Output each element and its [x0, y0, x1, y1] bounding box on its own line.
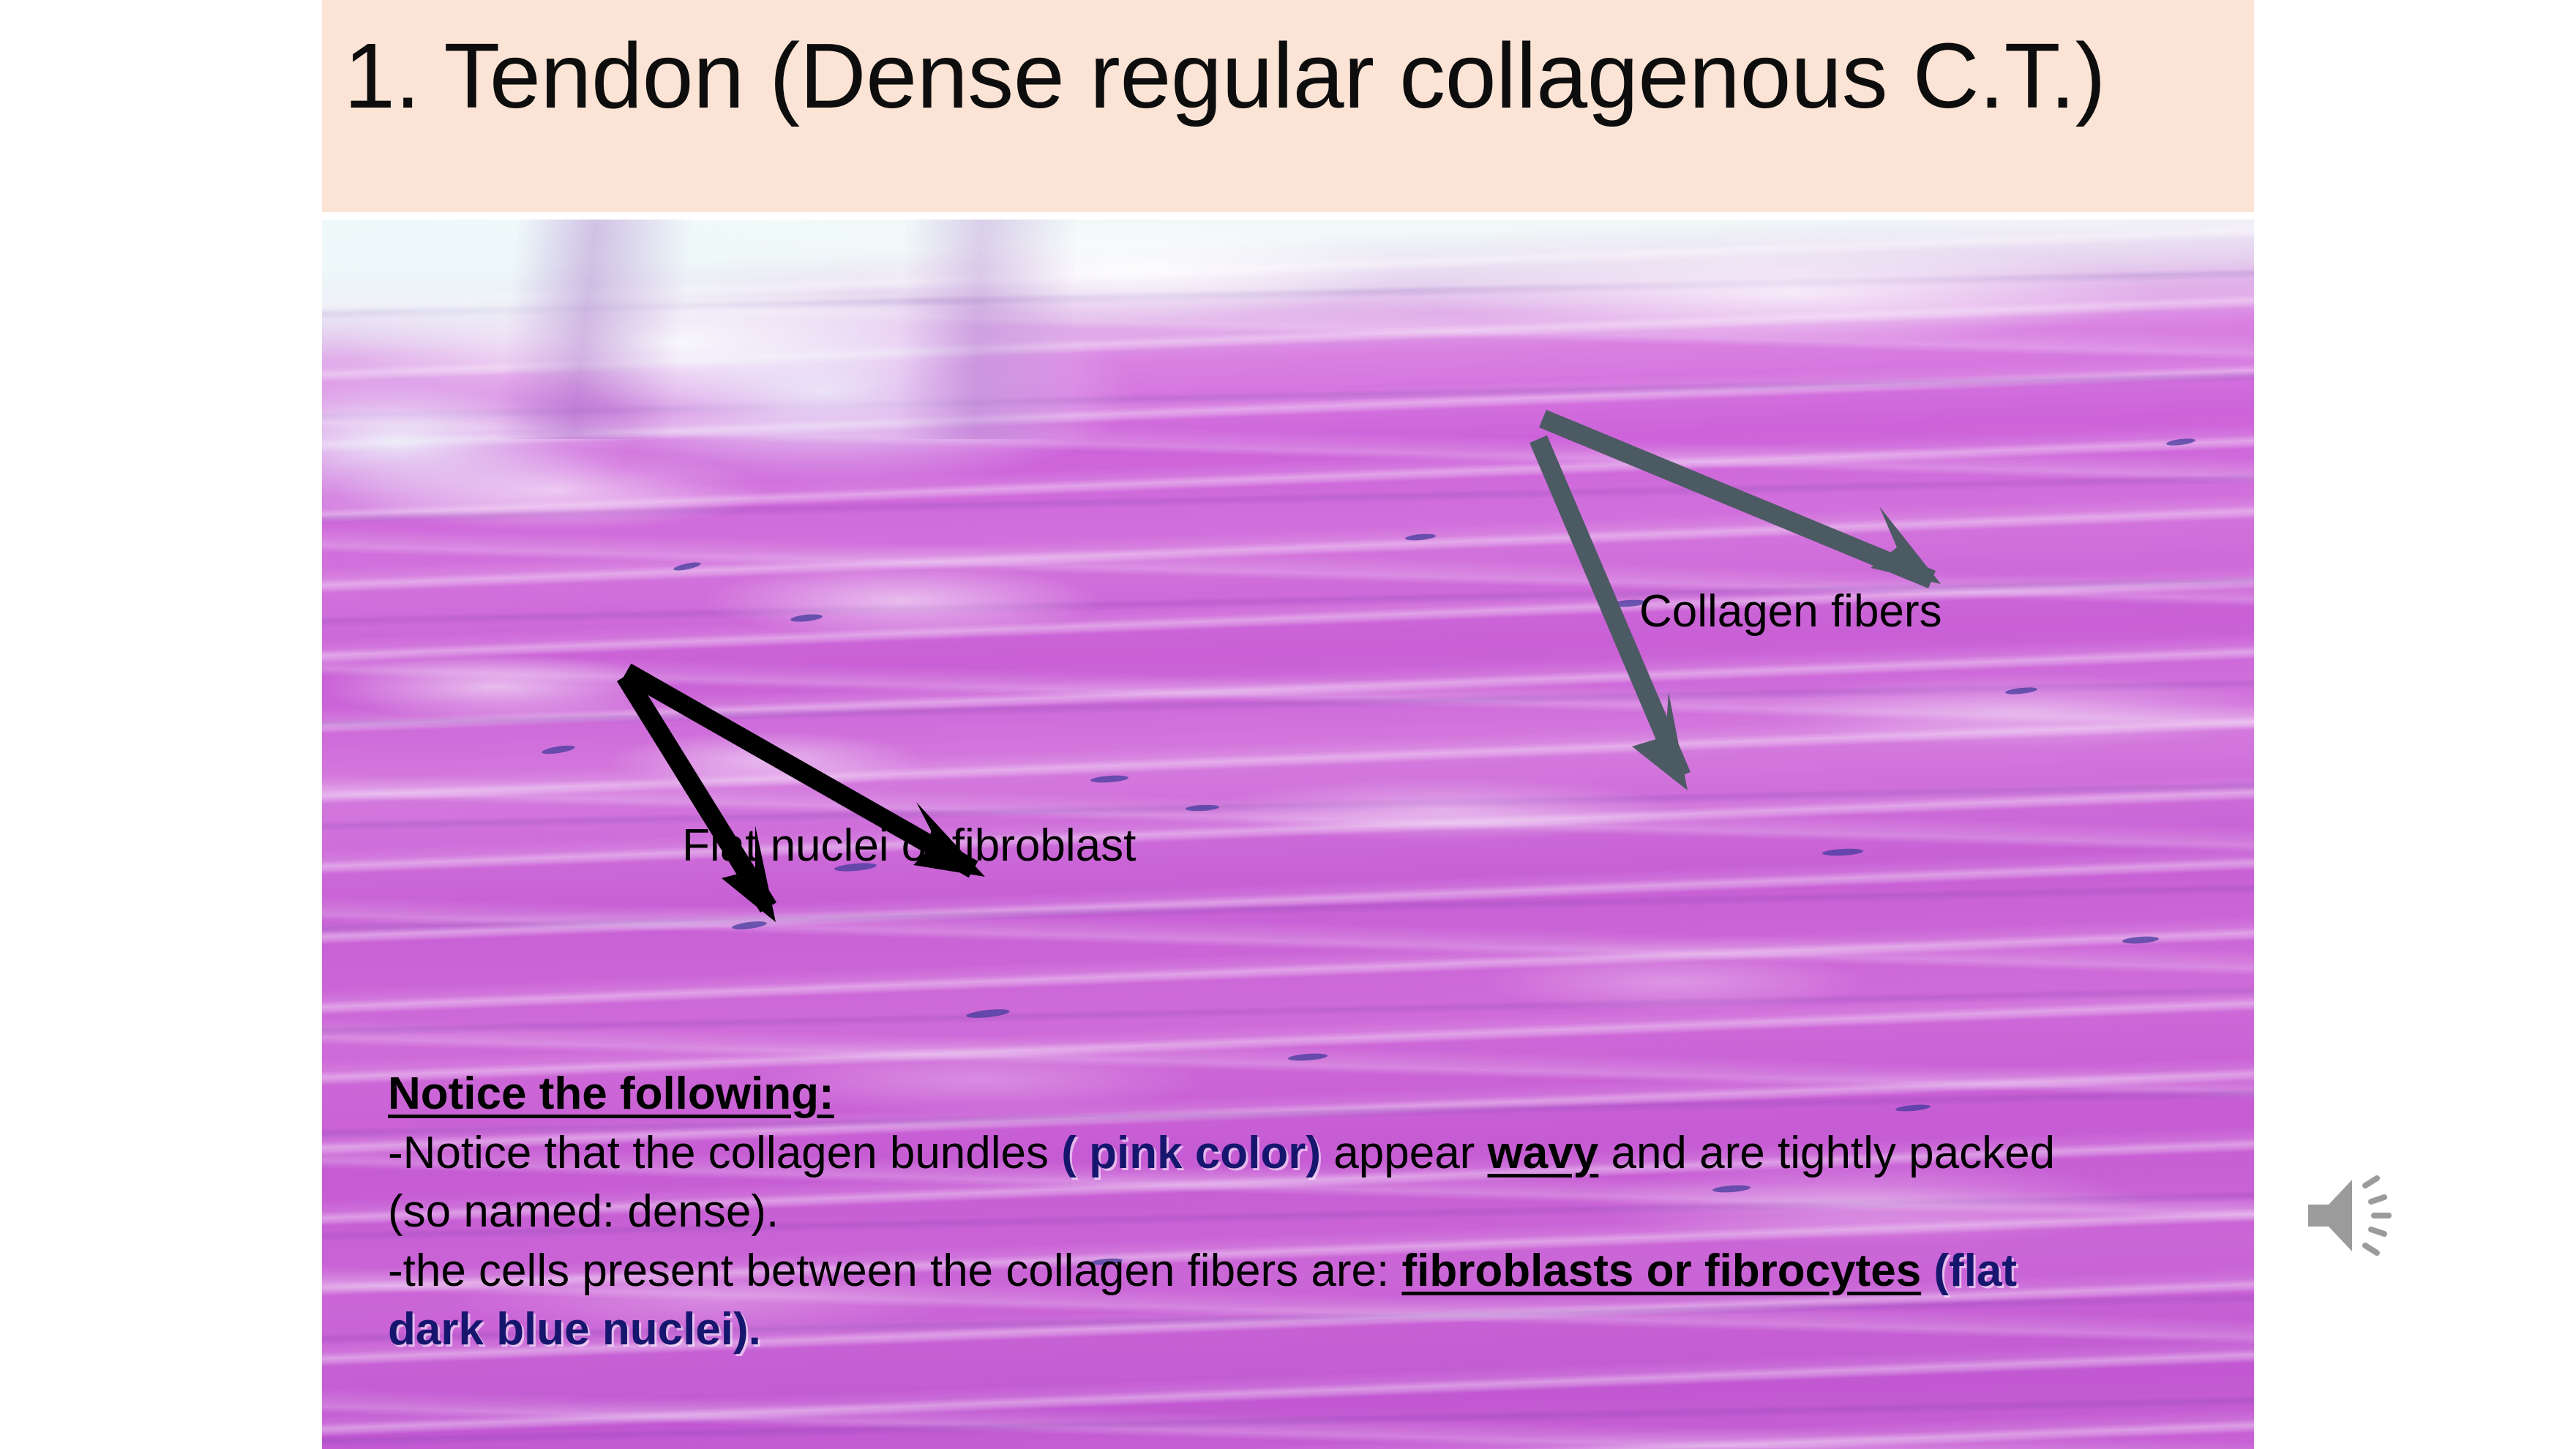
caption-run: -Notice that the collagen bundles: [388, 1128, 1061, 1178]
speaker-icon[interactable]: [2305, 1167, 2422, 1270]
caption-line-2: -the cells present between the collagen …: [388, 1242, 2064, 1360]
caption-block: Notice the following: -Notice that the c…: [388, 1065, 2064, 1360]
page-title: 1. Tendon (Dense regular collagenous C.T…: [344, 6, 2247, 146]
caption-line-1: -Notice that the collagen bundles ( pink…: [388, 1124, 2064, 1242]
slide-canvas: Collagen fibers Flat nuclei of fibroblas…: [0, 0, 2576, 1449]
micrograph-wispy-fibers: [322, 220, 2254, 439]
flat-nuclei-of-fibroblast-label: Flat nuclei of fibroblast: [682, 820, 1136, 872]
caption-run: -the cells present between the collagen …: [388, 1246, 1401, 1296]
tendon-histology-micrograph[interactable]: Collagen fibers Flat nuclei of fibroblas…: [322, 220, 2254, 1449]
caption-heading-text: Notice the following:: [388, 1068, 834, 1119]
caption-run-bold-underline: wavy: [1488, 1128, 1599, 1178]
caption-run-blue: ( pink color): [1061, 1128, 1321, 1178]
collagen-fibers-label: Collagen fibers: [1639, 585, 1942, 637]
caption-run-bold-underline: fibroblasts or fibrocytes: [1401, 1246, 1921, 1296]
caption-heading: Notice the following:: [388, 1065, 2064, 1124]
caption-run: [1921, 1246, 1933, 1296]
caption-run: appear: [1321, 1128, 1488, 1178]
